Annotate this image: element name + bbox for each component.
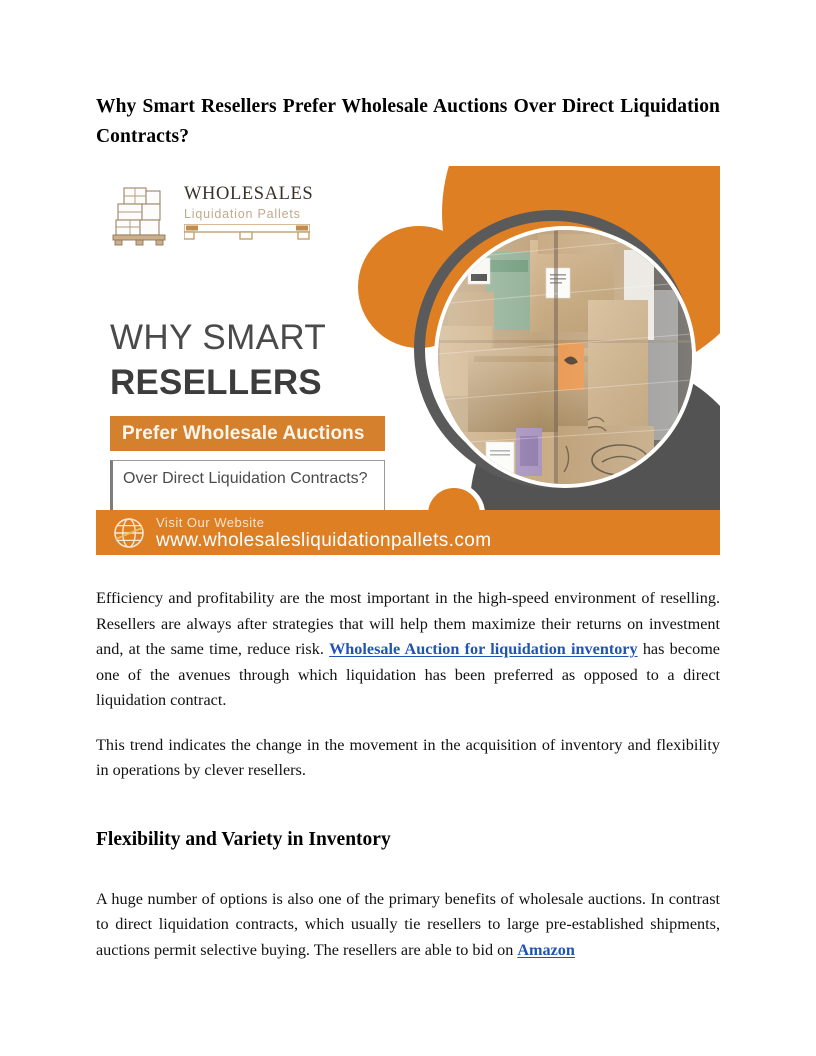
- website-bar-texts: Visit Our Website www.wholesalesliquidat…: [156, 516, 491, 550]
- document-page: Why Smart Resellers Prefer Wholesale Auc…: [0, 0, 816, 1056]
- headline-line-2: RESELLERS: [110, 360, 385, 406]
- pallet-bar-icon: [184, 224, 310, 240]
- headline-line-1: WHY SMART: [110, 316, 385, 360]
- headline-highlight-bar: Prefer Wholesale Auctions: [110, 416, 385, 451]
- brand-logo: WHOLESALES Liquidation Pallets: [110, 180, 310, 250]
- headline-subtitle-box: Over Direct Liquidation Contracts?: [110, 460, 385, 516]
- brand-subtitle: Liquidation Pallets: [184, 206, 310, 222]
- document-content: Why Smart Resellers Prefer Wholesale Auc…: [96, 92, 720, 963]
- globe-icon: [112, 516, 146, 550]
- website-url: www.wholesalesliquidationpallets.com: [156, 531, 491, 550]
- article-hero-banner: WHOLESALES Liquidation Pallets: [96, 166, 720, 555]
- paragraph-3-part-1: A huge number of options is also one of …: [96, 890, 720, 959]
- paragraph-2: This trend indicates the change in the m…: [96, 733, 720, 784]
- visit-website-label: Visit Our Website: [156, 516, 491, 529]
- brand-name: WHOLESALES: [184, 184, 310, 204]
- amazon-link[interactable]: Amazon: [517, 941, 575, 959]
- brand-logo-text: WHOLESALES Liquidation Pallets: [184, 184, 310, 240]
- section-heading-flexibility: Flexibility and Variety in Inventory: [96, 827, 720, 853]
- pallet-photo: [434, 226, 696, 488]
- stacked-boxes-pallet-icon: [110, 182, 176, 248]
- paragraph-3: A huge number of options is also one of …: [96, 887, 720, 964]
- banner-headline-block: WHY SMART RESELLERS Prefer Wholesale Auc…: [110, 316, 385, 516]
- banner-website-bar: Visit Our Website www.wholesalesliquidat…: [96, 510, 720, 555]
- headline-highlight-text: Prefer Wholesale Auctions: [122, 423, 365, 445]
- wholesale-auction-link[interactable]: Wholesale Auction for liquidation invent…: [329, 640, 637, 658]
- headline-subtitle-text: Over Direct Liquidation Contracts?: [123, 470, 368, 487]
- page-title: Why Smart Resellers Prefer Wholesale Auc…: [96, 92, 720, 152]
- paragraph-1: Efficiency and profitability are the mos…: [96, 586, 720, 714]
